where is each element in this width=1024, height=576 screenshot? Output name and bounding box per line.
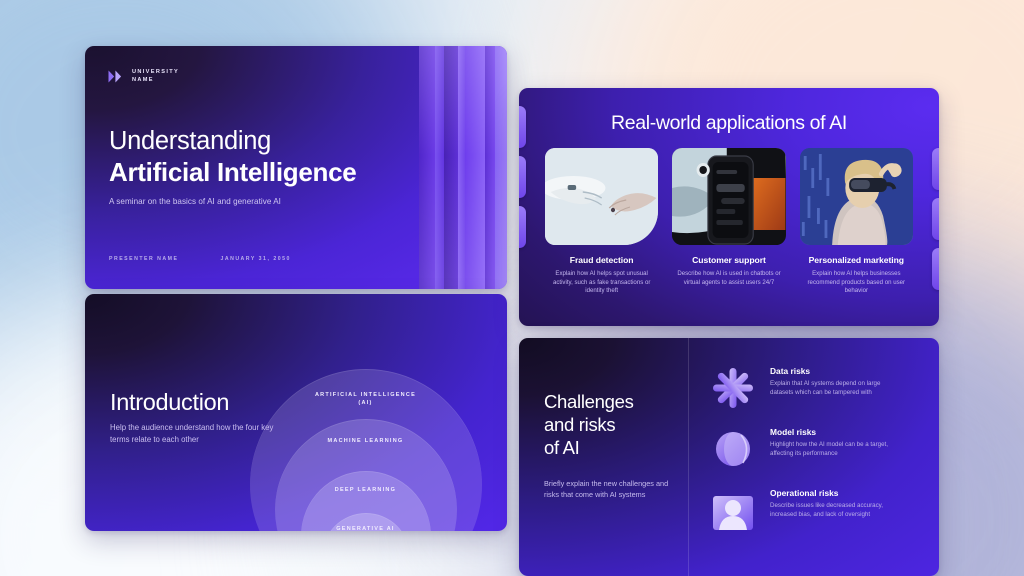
risk-heading: Model risks <box>770 427 894 437</box>
decorative-tab-right-3 <box>932 248 939 290</box>
application-card[interactable]: Fraud detection Explain how AI helps spo… <box>545 148 658 296</box>
title-block: Understanding Artificial Intelligence A … <box>109 126 356 208</box>
application-card[interactable]: Customer support Describe how AI is used… <box>672 148 785 296</box>
smartphone-chatbot-photo <box>672 148 785 245</box>
decorative-tab-left-2 <box>519 156 526 198</box>
presentation-date: JANUARY 31, 2050 <box>220 256 290 262</box>
risk-item[interactable]: Operational risks Describe issues like d… <box>711 488 919 532</box>
vr-headset-woman-photo <box>800 148 913 245</box>
nested-rings-diagram: ARTIFICIAL INTELLIGENCE (AI) MACHINE LEA… <box>238 301 493 531</box>
logo-line-1: UNIVERSITY <box>132 68 179 76</box>
card-body: Describe how AI is used in chatbots or v… <box>672 270 785 287</box>
risk-item[interactable]: Data risks Explain that AI systems depen… <box>711 366 919 410</box>
risk-item[interactable]: Model risks Highlight how the AI model c… <box>711 427 919 471</box>
slide-risks[interactable]: Challenges and risks of AI Briefly expla… <box>519 338 939 576</box>
card-body: Explain how AI helps businesses recommen… <box>800 270 913 296</box>
title-line-2: Artificial Intelligence <box>109 157 356 188</box>
card-heading: Customer support <box>692 255 766 265</box>
logo-line-2: NAME <box>132 76 179 84</box>
slide-applications[interactable]: Real-world applications of AI <box>519 88 939 326</box>
university-logo: UNIVERSITY NAME <box>108 68 179 84</box>
decorative-tab-right-1 <box>932 148 939 190</box>
presenter-name: PRESENTER NAME <box>109 256 178 262</box>
risks-subtitle: Briefly explain the new challenges and r… <box>544 478 674 500</box>
double-chevron-icon <box>108 70 125 83</box>
risks-title-line-1: Challenges <box>544 390 634 413</box>
ring-label-1b: (AI) <box>358 400 372 406</box>
risk-item-list: Data risks Explain that AI systems depen… <box>711 366 919 532</box>
risks-title: Challenges and risks of AI <box>544 390 634 459</box>
application-card[interactable]: Personalized marketing Explain how AI he… <box>800 148 913 296</box>
ring-label-1a: ARTIFICIAL INTELLIGENCE <box>315 392 416 398</box>
title-line-1: Understanding <box>109 126 356 156</box>
robotic-hand-photo <box>545 148 658 245</box>
application-card-list: Fraud detection Explain how AI helps spo… <box>545 148 913 296</box>
ring-label-4a: GENERATIVE AI <box>336 526 394 531</box>
applications-title: Real-world applications of AI <box>519 112 939 135</box>
decorative-tab-left-3 <box>519 206 526 248</box>
sphere-icon <box>711 427 755 471</box>
vertical-divider <box>688 338 689 576</box>
decorative-vertical-bars <box>419 46 507 289</box>
card-heading: Personalized marketing <box>809 255 904 265</box>
risks-title-line-3: of AI <box>544 436 634 459</box>
risk-heading: Operational risks <box>770 488 894 498</box>
introduction-subtitle: Help the audience understand how the fou… <box>110 422 275 446</box>
decorative-tab-right-2 <box>932 198 939 240</box>
title-footer: PRESENTER NAME JANUARY 31, 2050 <box>109 256 291 262</box>
slide-title[interactable]: UNIVERSITY NAME Understanding Artificial… <box>85 46 507 289</box>
title-subtitle: A seminar on the basics of AI and genera… <box>109 196 356 208</box>
introduction-title: Introduction <box>110 389 229 416</box>
risk-body: Highlight how the AI model can be a targ… <box>770 441 894 459</box>
card-body: Explain how AI helps spot unusual activi… <box>545 270 658 296</box>
slide-introduction[interactable]: ARTIFICIAL INTELLIGENCE (AI) MACHINE LEA… <box>85 294 507 531</box>
user-profile-icon <box>711 488 755 532</box>
risk-body: Explain that AI systems depend on large … <box>770 380 894 398</box>
slide-deck-canvas: UNIVERSITY NAME Understanding Artificial… <box>0 0 1024 576</box>
card-heading: Fraud detection <box>570 255 634 265</box>
risk-heading: Data risks <box>770 366 894 376</box>
asterisk-burst-icon <box>711 366 755 410</box>
risks-title-line-2: and risks <box>544 413 634 436</box>
risk-body: Describe issues like decreased accuracy,… <box>770 502 894 520</box>
